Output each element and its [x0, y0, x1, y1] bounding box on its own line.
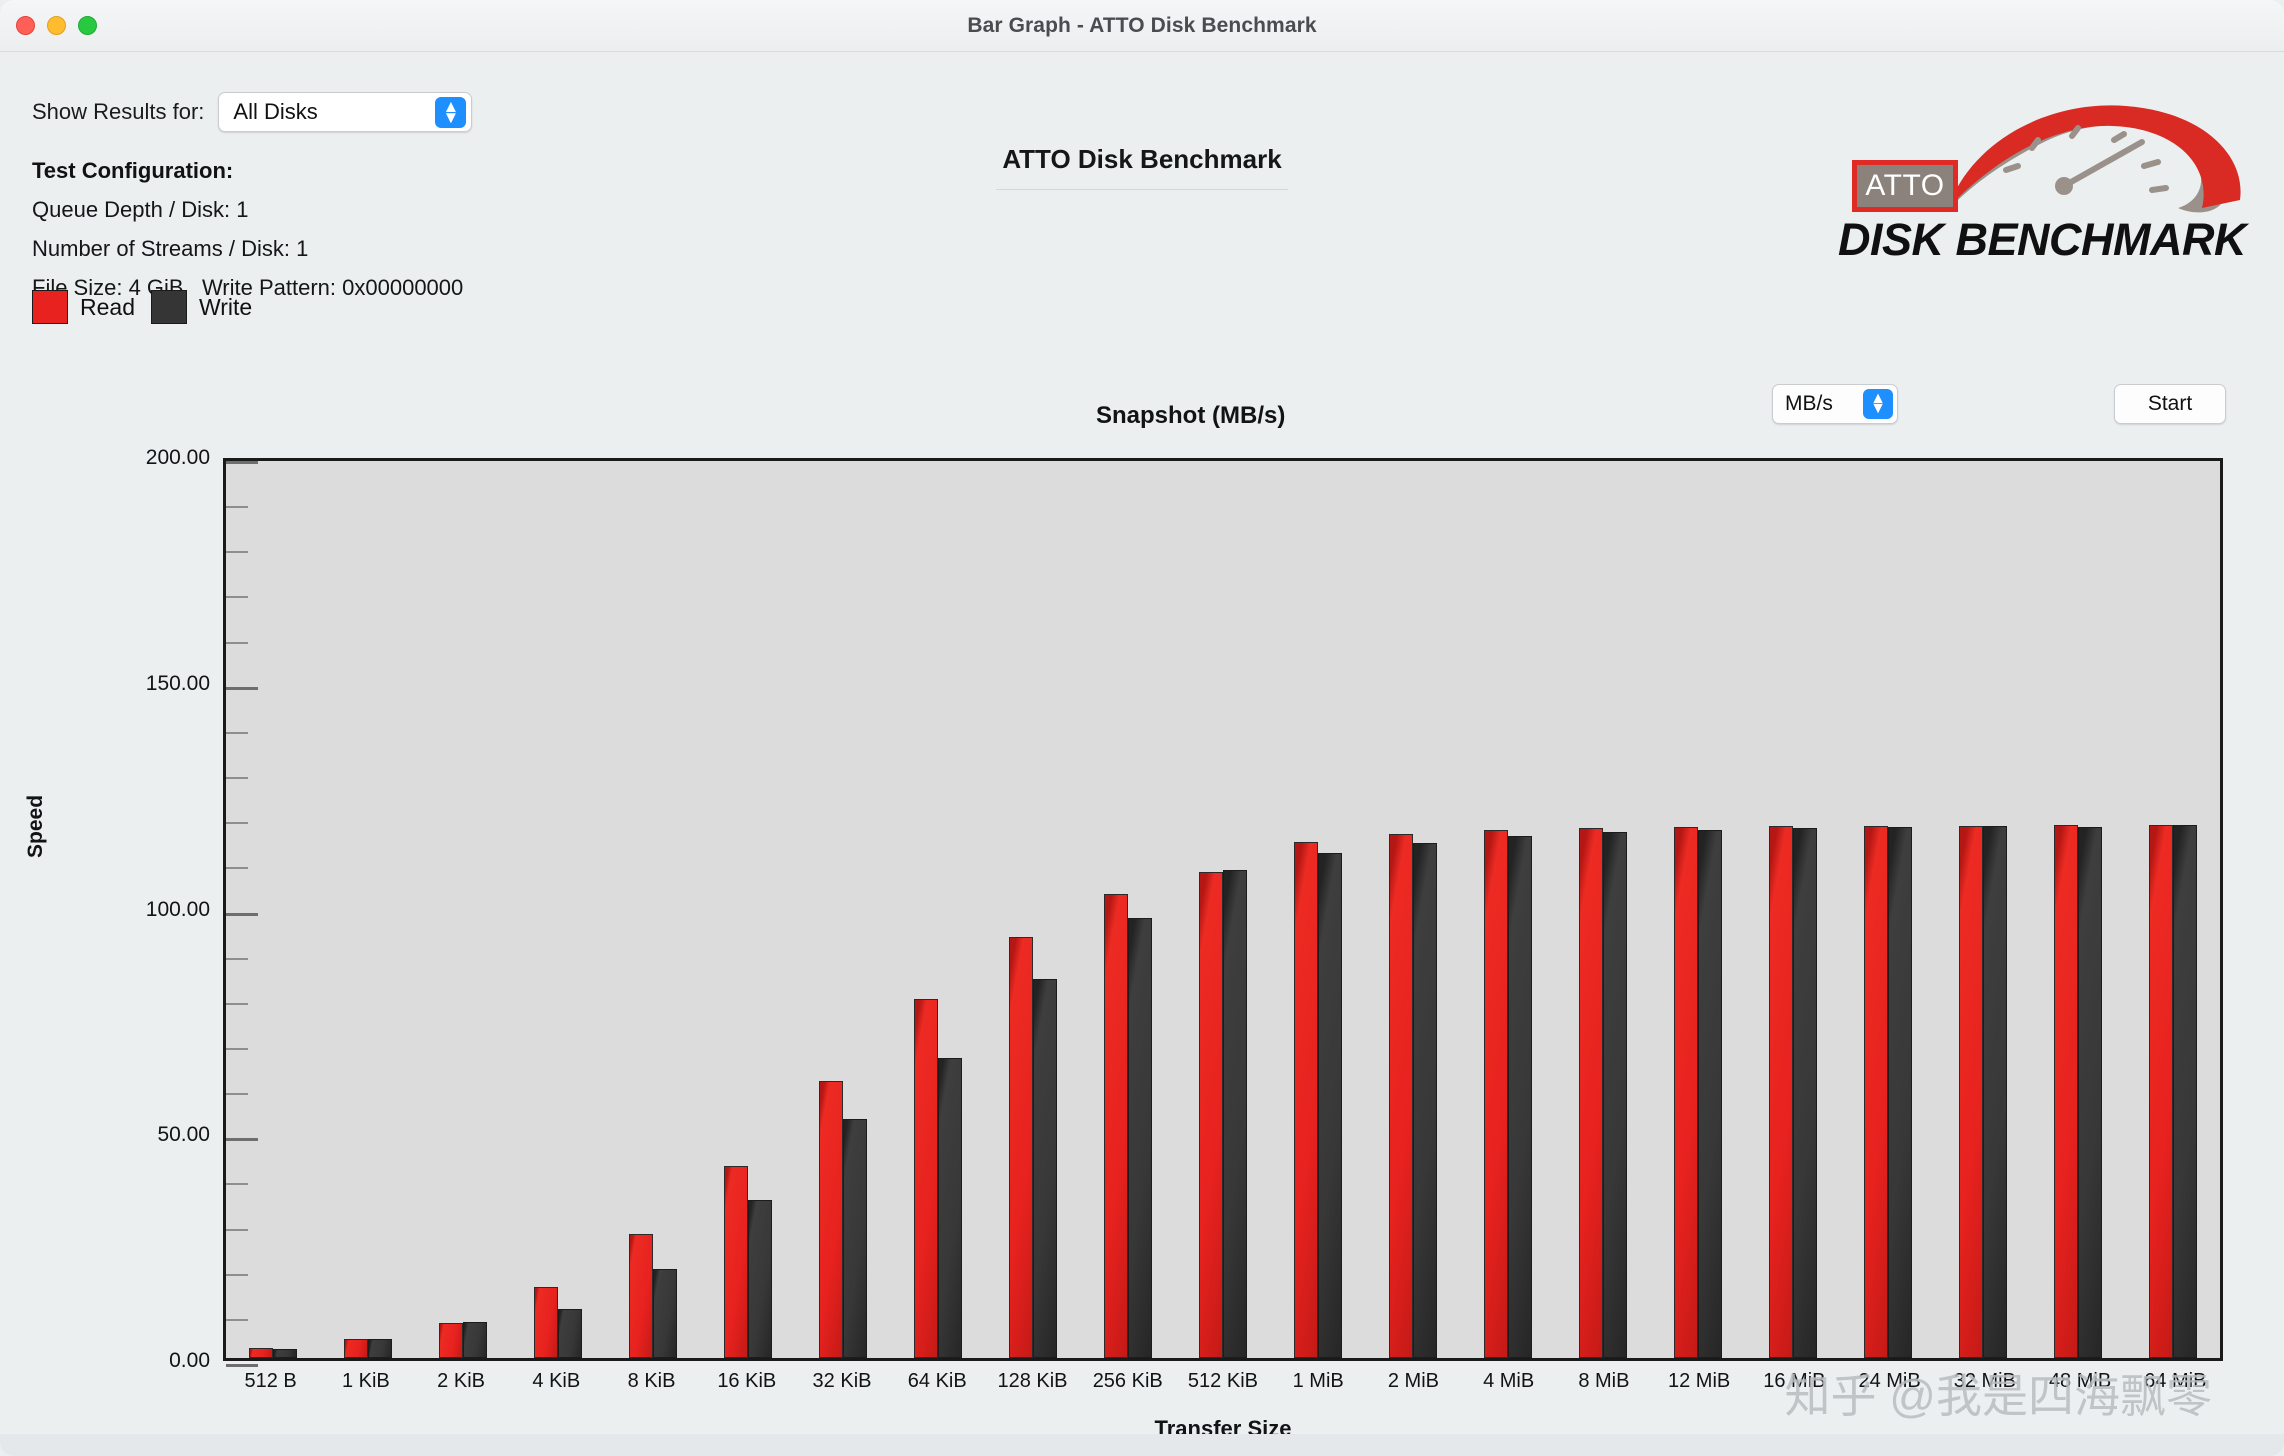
units-select[interactable]: MB/s ▲▼	[1772, 384, 1898, 424]
start-button-label: Start	[2148, 392, 2192, 416]
atto-logo: ATTO DISK BENCHMARK	[1838, 112, 2246, 262]
x-axis-tick-label: 64 MiB	[2128, 1370, 2223, 1393]
start-button[interactable]: Start	[2114, 384, 2226, 424]
bar-read	[1199, 872, 1223, 1358]
bar-group	[2030, 461, 2125, 1358]
bar-group	[1270, 461, 1365, 1358]
bar-group	[1365, 461, 1460, 1358]
x-axis-tick-label: 8 MiB	[1556, 1370, 1651, 1393]
bar-read	[629, 1234, 653, 1358]
read-color-swatch	[32, 290, 68, 324]
close-window-button[interactable]	[16, 16, 35, 35]
show-results-label: Show Results for:	[32, 99, 204, 125]
bar-read	[914, 999, 938, 1358]
plot-area	[223, 458, 2223, 1361]
bar-group	[2125, 461, 2220, 1358]
x-axis-tick-label: 8 KiB	[604, 1370, 699, 1393]
app-title: ATTO Disk Benchmark	[996, 144, 1288, 175]
bar-write	[748, 1200, 772, 1358]
bar-write	[2173, 825, 2197, 1358]
x-axis-tick-label: 512 KiB	[1175, 1370, 1270, 1393]
bar-read	[249, 1348, 273, 1358]
bar-write	[1508, 836, 1532, 1358]
app-window: Bar Graph - ATTO Disk Benchmark Show Res…	[0, 0, 2284, 1456]
bar-write	[558, 1309, 582, 1358]
bar-read	[1294, 842, 1318, 1358]
x-axis-tick-label: 16 MiB	[1747, 1370, 1842, 1393]
y-axis-tick-label: 50.00	[157, 1123, 210, 1147]
bar-write	[653, 1269, 677, 1358]
bar-write	[1793, 828, 1817, 1359]
bar-write	[368, 1339, 392, 1358]
legend-item-read: Read	[32, 290, 135, 324]
app-title-block: ATTO Disk Benchmark	[996, 144, 1288, 190]
x-axis-tick-label: 512 B	[223, 1370, 318, 1393]
bar-group	[701, 461, 796, 1358]
x-axis-tick-label: 4 KiB	[509, 1370, 604, 1393]
bar-group	[986, 461, 1081, 1358]
bar-read	[2054, 825, 2078, 1358]
bar-group	[606, 461, 701, 1358]
bar-read	[1674, 827, 1698, 1358]
y-axis-major-tick	[226, 1364, 258, 1367]
streams-line: Number of Streams / Disk: 1	[32, 236, 463, 262]
traffic-light-buttons	[16, 0, 97, 51]
show-results-row: Show Results for: All Disks ▲▼	[32, 92, 472, 132]
x-axis-tick-label: 256 KiB	[1080, 1370, 1175, 1393]
units-select-value: MB/s	[1773, 392, 1833, 416]
y-axis-tick-labels: 0.0050.00100.00150.00200.00	[60, 458, 218, 1361]
bar-write	[938, 1058, 962, 1358]
bar-group	[1176, 461, 1271, 1358]
atto-logo-badge-text: ATTO	[1865, 169, 1944, 203]
bar-read	[1104, 894, 1128, 1358]
disk-select-value: All Disks	[219, 99, 317, 125]
x-axis-tick-label: 2 KiB	[413, 1370, 508, 1393]
x-axis-tick-label: 32 MiB	[1937, 1370, 2032, 1393]
y-axis-tick-label: 100.00	[146, 898, 210, 922]
y-axis-tick-label: 150.00	[146, 672, 210, 696]
bar-group	[1650, 461, 1745, 1358]
bar-read	[1009, 937, 1033, 1358]
bar-write	[463, 1322, 487, 1358]
bar-read	[439, 1323, 463, 1358]
y-axis-title: Speed	[24, 795, 48, 858]
bar-read	[534, 1287, 558, 1358]
bar-read	[1769, 826, 1793, 1358]
bar-group	[1081, 461, 1176, 1358]
bar-write	[1983, 826, 2007, 1358]
chevron-updown-icon[interactable]: ▲▼	[435, 97, 466, 128]
test-configuration-title: Test Configuration:	[32, 158, 463, 184]
bar-group	[1460, 461, 1555, 1358]
bar-group	[511, 461, 606, 1358]
window-titlebar: Bar Graph - ATTO Disk Benchmark	[0, 0, 2284, 52]
disk-select[interactable]: All Disks ▲▼	[218, 92, 472, 132]
bar-write	[1888, 827, 1912, 1358]
bar-read	[819, 1081, 843, 1358]
bar-group	[1840, 461, 1935, 1358]
x-axis-tick-label: 1 MiB	[1271, 1370, 1366, 1393]
chevron-updown-icon[interactable]: ▲▼	[1863, 389, 1893, 419]
legend-label-read: Read	[80, 294, 135, 321]
bar-read	[724, 1166, 748, 1358]
x-axis-tick-label: 12 MiB	[1652, 1370, 1747, 1393]
bar-group	[891, 461, 986, 1358]
bar-read	[1864, 826, 1888, 1358]
bar-write	[1603, 832, 1627, 1358]
speedometer-icon	[1946, 104, 2246, 216]
bar-write	[1698, 830, 1722, 1358]
bar-read	[1959, 826, 1983, 1358]
window-bottom-strip	[0, 1434, 2284, 1456]
bar-write	[1413, 843, 1437, 1358]
x-axis-tick-label: 1 KiB	[318, 1370, 413, 1393]
bar-read	[1579, 828, 1603, 1358]
bar-write	[1318, 853, 1342, 1358]
chart-legend: Read Write	[32, 290, 252, 324]
legend-label-write: Write	[199, 294, 252, 321]
atto-logo-subtitle: DISK BENCHMARK	[1838, 214, 2246, 266]
bar-chart: Speed 0.0050.00100.00150.00200.00 512 B1…	[0, 458, 2284, 1418]
queue-depth-line: Queue Depth / Disk: 1	[32, 197, 463, 223]
x-axis-tick-label: 4 MiB	[1461, 1370, 1556, 1393]
bar-group	[416, 461, 511, 1358]
bar-write	[1033, 979, 1057, 1358]
x-axis-tick-labels: 512 B1 KiB2 KiB4 KiB8 KiB16 KiB32 KiB64 …	[223, 1370, 2223, 1393]
bar-write	[1223, 870, 1247, 1358]
bar-write	[1128, 918, 1152, 1358]
bar-group	[226, 461, 321, 1358]
bar-series-container	[226, 461, 2220, 1358]
maximize-window-button[interactable]	[78, 16, 97, 35]
atto-logo-badge: ATTO	[1852, 160, 1958, 212]
window-title: Bar Graph - ATTO Disk Benchmark	[0, 14, 2284, 38]
y-axis-tick-label: 0.00	[169, 1349, 210, 1373]
bar-read	[2149, 825, 2173, 1358]
bar-write	[273, 1349, 297, 1358]
x-axis-tick-label: 24 MiB	[1842, 1370, 1937, 1393]
x-axis-tick-label: 16 KiB	[699, 1370, 794, 1393]
chart-title: Snapshot (MB/s)	[1096, 402, 1285, 430]
x-axis-tick-label: 48 MiB	[2032, 1370, 2127, 1393]
app-title-divider	[996, 189, 1288, 190]
bar-group	[321, 461, 416, 1358]
x-axis-tick-label: 64 KiB	[890, 1370, 985, 1393]
bar-group	[1935, 461, 2030, 1358]
bar-read	[1484, 830, 1508, 1358]
bar-read	[344, 1339, 368, 1358]
minimize-window-button[interactable]	[47, 16, 66, 35]
x-axis-tick-label: 2 MiB	[1366, 1370, 1461, 1393]
window-content: Show Results for: All Disks ▲▼ Test Conf…	[0, 52, 2284, 1456]
bar-read	[1389, 834, 1413, 1358]
bar-group	[796, 461, 891, 1358]
bar-group	[1555, 461, 1650, 1358]
bar-write	[843, 1119, 867, 1358]
legend-item-write: Write	[151, 290, 252, 324]
write-color-swatch	[151, 290, 187, 324]
bar-write	[2078, 827, 2102, 1358]
x-axis-tick-label: 32 KiB	[794, 1370, 889, 1393]
x-axis-tick-label: 128 KiB	[985, 1370, 1080, 1393]
bar-group	[1745, 461, 1840, 1358]
y-axis-tick-label: 200.00	[146, 446, 210, 470]
